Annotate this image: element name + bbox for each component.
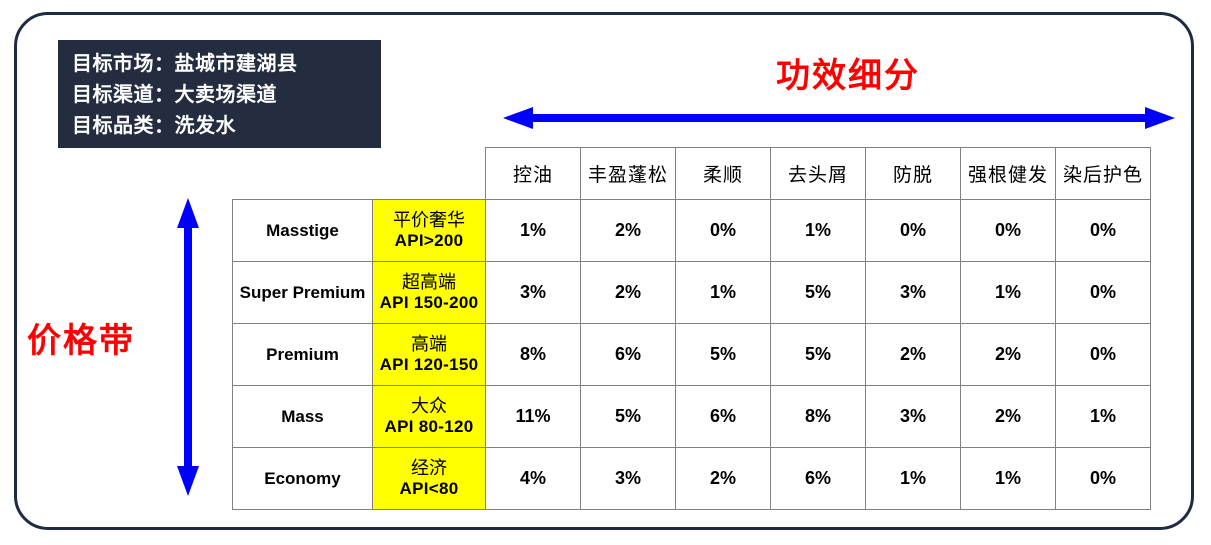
matrix-value: 0% bbox=[676, 200, 771, 262]
column-header-3: 去头屑 bbox=[771, 148, 866, 200]
matrix-value: 0% bbox=[1056, 200, 1151, 262]
slide-canvas: 目标市场：盐城市建湖县 目标渠道：大卖场渠道 目标品类：洗发水 功效细分 价格带 bbox=[0, 0, 1211, 545]
tier-label: Premium bbox=[233, 324, 373, 386]
tier-label: Mass bbox=[233, 386, 373, 448]
price-band-cell: 大众 API 80-120 bbox=[373, 386, 486, 448]
matrix-value: 5% bbox=[581, 386, 676, 448]
table-header-row: 控油 丰盈蓬松 柔顺 去头屑 防脱 强根健发 染后护色 bbox=[233, 148, 1151, 200]
matrix-value: 3% bbox=[866, 262, 961, 324]
price-band-name: 经济 bbox=[373, 459, 485, 479]
price-band-name: 大众 bbox=[373, 397, 485, 417]
price-band-cell: 高端 API 120-150 bbox=[373, 324, 486, 386]
column-header-5: 强根健发 bbox=[961, 148, 1056, 200]
column-header-6: 染后护色 bbox=[1056, 148, 1151, 200]
column-header-2: 柔顺 bbox=[676, 148, 771, 200]
matrix-value: 1% bbox=[676, 262, 771, 324]
header-spacer-band bbox=[373, 148, 486, 200]
double-arrow-horizontal-icon bbox=[503, 105, 1175, 131]
double-arrow-vertical-icon bbox=[175, 198, 201, 496]
price-band-api: API 80-120 bbox=[373, 417, 485, 436]
matrix-value: 2% bbox=[961, 386, 1056, 448]
header-spacer-tier bbox=[233, 148, 373, 200]
matrix-value: 1% bbox=[771, 200, 866, 262]
matrix-value: 6% bbox=[676, 386, 771, 448]
matrix-value: 1% bbox=[961, 448, 1056, 510]
matrix-value: 0% bbox=[961, 200, 1056, 262]
table-row: Premium 高端 API 120-150 8% 6% 5% 5% 2% 2%… bbox=[233, 324, 1151, 386]
matrix-value: 6% bbox=[581, 324, 676, 386]
axis-title-top: 功效细分 bbox=[776, 48, 920, 97]
matrix-value: 1% bbox=[486, 200, 581, 262]
matrix-value: 5% bbox=[676, 324, 771, 386]
price-band-api: API<80 bbox=[373, 479, 485, 498]
tier-label: Super Premium bbox=[233, 262, 373, 324]
table-row: Super Premium 超高端 API 150-200 3% 2% 1% 5… bbox=[233, 262, 1151, 324]
price-band-cell: 超高端 API 150-200 bbox=[373, 262, 486, 324]
price-band-efficacy-matrix: 控油 丰盈蓬松 柔顺 去头屑 防脱 强根健发 染后护色 Masstige 平价奢… bbox=[232, 147, 1151, 510]
matrix-value: 2% bbox=[581, 262, 676, 324]
matrix-value: 2% bbox=[961, 324, 1056, 386]
tier-label: Economy bbox=[233, 448, 373, 510]
matrix-value: 6% bbox=[771, 448, 866, 510]
price-band-api: API 120-150 bbox=[373, 355, 485, 374]
axis-title-left: 价格带 bbox=[27, 313, 135, 362]
target-info-box: 目标市场：盐城市建湖县 目标渠道：大卖场渠道 目标品类：洗发水 bbox=[58, 40, 381, 148]
matrix-value: 1% bbox=[866, 448, 961, 510]
matrix-value: 1% bbox=[1056, 386, 1151, 448]
matrix-value: 4% bbox=[486, 448, 581, 510]
price-band-api: API>200 bbox=[373, 231, 485, 250]
target-category-line: 目标品类：洗发水 bbox=[72, 111, 381, 142]
column-header-0: 控油 bbox=[486, 148, 581, 200]
target-market-line: 目标市场：盐城市建湖县 bbox=[72, 49, 381, 80]
matrix-value: 11% bbox=[486, 386, 581, 448]
price-band-name: 超高端 bbox=[373, 273, 485, 293]
target-channel-line: 目标渠道：大卖场渠道 bbox=[72, 80, 381, 111]
matrix-value: 3% bbox=[581, 448, 676, 510]
price-band-name: 高端 bbox=[373, 335, 485, 355]
column-header-4: 防脱 bbox=[866, 148, 961, 200]
matrix-value: 3% bbox=[486, 262, 581, 324]
matrix-value: 8% bbox=[486, 324, 581, 386]
matrix-value: 0% bbox=[1056, 448, 1151, 510]
matrix-value: 1% bbox=[961, 262, 1056, 324]
matrix-value: 0% bbox=[1056, 262, 1151, 324]
matrix-value: 2% bbox=[866, 324, 961, 386]
matrix-value: 3% bbox=[866, 386, 961, 448]
price-band-cell: 平价奢华 API>200 bbox=[373, 200, 486, 262]
table-row: Economy 经济 API<80 4% 3% 2% 6% 1% 1% 0% bbox=[233, 448, 1151, 510]
matrix-value: 5% bbox=[771, 324, 866, 386]
matrix-value: 8% bbox=[771, 386, 866, 448]
matrix-value: 0% bbox=[1056, 324, 1151, 386]
price-band-name: 平价奢华 bbox=[373, 211, 485, 231]
matrix-value: 0% bbox=[866, 200, 961, 262]
matrix-value: 2% bbox=[676, 448, 771, 510]
price-band-api: API 150-200 bbox=[373, 293, 485, 312]
matrix-value: 2% bbox=[581, 200, 676, 262]
price-band-cell: 经济 API<80 bbox=[373, 448, 486, 510]
column-header-1: 丰盈蓬松 bbox=[581, 148, 676, 200]
matrix-value: 5% bbox=[771, 262, 866, 324]
table-row: Masstige 平价奢华 API>200 1% 2% 0% 1% 0% 0% … bbox=[233, 200, 1151, 262]
table-row: Mass 大众 API 80-120 11% 5% 6% 8% 3% 2% 1% bbox=[233, 386, 1151, 448]
tier-label: Masstige bbox=[233, 200, 373, 262]
